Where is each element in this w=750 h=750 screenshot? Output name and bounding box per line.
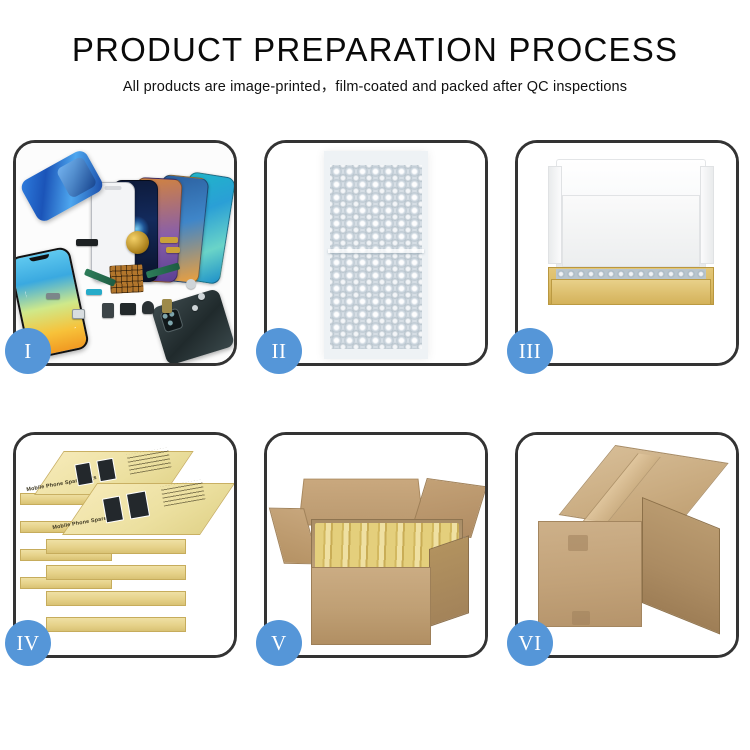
box-thumb-rear-2 [96,458,117,483]
step-badge-4: IV [5,620,51,666]
carton-side-panel [429,535,469,627]
step-panel-4: Mobile Phone Spare Parts Mobile Phone Sp… [13,432,237,658]
step-image-4: Mobile Phone Spare Parts Mobile Phone Sp… [16,435,234,655]
step-badge-1: I [5,328,51,374]
step-badge-3: III [507,328,553,374]
step-panel-3: III [515,140,739,366]
small-part-8 [72,309,85,319]
bubble-wrap-scene [267,143,485,363]
page-subtitle: All products are image-printed，film-coat… [0,77,750,97]
header: PRODUCT PREPARATION PROCESS All products… [0,30,750,97]
phones-and-parts-scene [16,143,234,363]
sealed-carton-front [538,521,642,627]
step-badge-6: VI [507,620,553,666]
product-preparation-infographic: PRODUCT PREPARATION PROCESS All products… [0,0,750,750]
small-part-1 [76,239,98,246]
step-panel-1: I [13,140,237,366]
bubble-texture [330,165,422,349]
step-image-5 [267,435,485,655]
small-part-7 [162,299,172,313]
small-part-3 [166,247,180,253]
step-badge-5: V [256,620,302,666]
step-image-3 [518,143,736,363]
stacked-box-f2 [46,565,186,580]
page-title: PRODUCT PREPARATION PROCESS [0,30,750,70]
carton-handle-notch-top [568,535,588,551]
phone-fan-group [80,157,230,282]
screw-2 [198,293,205,300]
sealed-carton-side [642,497,720,635]
pouch-seam [328,249,424,253]
step-panel-5: V [264,432,488,658]
retail-box-stack-scene: Mobile Phone Spare Parts Mobile Phone Sp… [16,435,234,655]
small-part-4 [102,303,114,318]
bubble-wrap-pouch [324,151,428,359]
stacked-box-f4 [46,617,186,632]
small-part-2 [160,237,178,243]
step-panel-6: VI [515,432,739,658]
step-image-2 [267,143,485,363]
open-carton-scene [267,435,485,655]
carton-front-panel [311,567,431,645]
process-steps-grid: I II [13,140,739,658]
small-part-9 [86,289,102,295]
step-badge-2: II [256,328,302,374]
small-part-5 [120,303,136,315]
screw-3 [192,305,198,311]
small-part-10 [46,293,60,299]
box-thumb-front-2 [126,490,150,519]
gold-coil-component [126,231,149,254]
sealed-carton-scene [518,435,736,655]
screw-1 [186,279,196,289]
stacked-box-f3 [46,591,186,606]
small-part-6 [142,301,154,314]
box-tray-front [551,279,711,305]
carton-handle-notch-bottom [572,611,590,625]
stacked-box-f1 [46,539,186,554]
step-image-6 [518,435,736,655]
open-inner-box-scene [518,143,736,363]
foam-insert [562,195,700,267]
step-image-1 [16,143,234,363]
step-panel-2: II [264,140,488,366]
